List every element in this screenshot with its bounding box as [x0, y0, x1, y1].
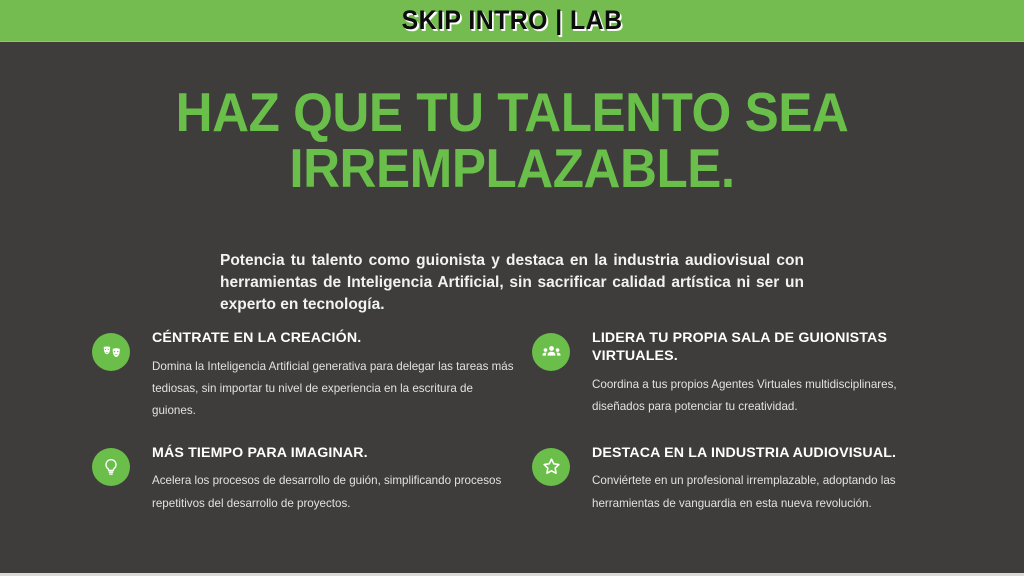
- lightbulb-icon: [92, 448, 130, 486]
- feature-title: MÁS TIEMPO PARA IMAGINAR.: [152, 445, 517, 463]
- site-header: SKIP INTRO | LAB: [0, 0, 1024, 42]
- theater-masks-icon: [92, 333, 130, 371]
- feature-description: Coordina a tus propios Agentes Virtuales…: [592, 374, 952, 419]
- landing-page: SKIP INTRO | LAB HAZ QUE TU TALENTO SEA …: [0, 0, 1024, 576]
- feature-description: Acelera los procesos de desarrollo de gu…: [152, 470, 517, 515]
- hero-section: HAZ QUE TU TALENTO SEA IRREMPLAZABLE. Po…: [0, 42, 1024, 316]
- feature-body: MÁS TIEMPO PARA IMAGINAR. Acelera los pr…: [152, 445, 517, 515]
- feature-title: DESTACA EN LA INDUSTRIA AUDIOVISUAL.: [592, 445, 952, 463]
- feature-item-destaca: DESTACA EN LA INDUSTRIA AUDIOVISUAL. Con…: [532, 445, 952, 515]
- feature-item-creacion: CÉNTRATE EN LA CREACIÓN. Domina la Intel…: [92, 330, 532, 423]
- feature-list: CÉNTRATE EN LA CREACIÓN. Domina la Intel…: [92, 330, 952, 515]
- feature-title: LIDERA TU PROPIA SALA DE GUIONISTAS VIRT…: [592, 330, 952, 366]
- feature-body: LIDERA TU PROPIA SALA DE GUIONISTAS VIRT…: [592, 330, 952, 418]
- feature-title: CÉNTRATE EN LA CREACIÓN.: [152, 330, 517, 348]
- page-title: HAZ QUE TU TALENTO SEA IRREMPLAZABLE.: [36, 84, 988, 196]
- headline-line-1: HAZ QUE TU TALENTO SEA: [176, 81, 849, 143]
- people-group-icon: [532, 333, 570, 371]
- star-outline-icon: [532, 448, 570, 486]
- feature-item-sala-guionistas: LIDERA TU PROPIA SALA DE GUIONISTAS VIRT…: [532, 330, 952, 423]
- hero-subcopy: Potencia tu talento como guionista y des…: [220, 250, 804, 316]
- feature-item-imaginar: MÁS TIEMPO PARA IMAGINAR. Acelera los pr…: [92, 445, 532, 515]
- headline-line-2: IRREMPLAZABLE.: [36, 140, 988, 196]
- feature-body: DESTACA EN LA INDUSTRIA AUDIOVISUAL. Con…: [592, 445, 952, 515]
- feature-body: CÉNTRATE EN LA CREACIÓN. Domina la Intel…: [152, 330, 517, 423]
- feature-description: Domina la Inteligencia Artificial genera…: [152, 356, 517, 423]
- feature-description: Conviértete en un profesional irremplaza…: [592, 470, 952, 515]
- brand-logo-text[interactable]: SKIP INTRO | LAB: [402, 5, 623, 36]
